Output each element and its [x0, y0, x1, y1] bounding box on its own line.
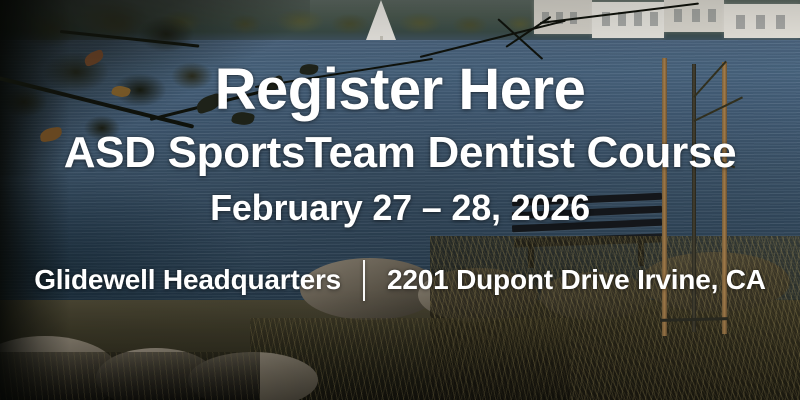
event-dates: February 27 – 28, 2026 [210, 189, 590, 227]
banner-text-overlay: Register Here ASD SportsTeam Dentist Cou… [0, 0, 800, 400]
venue-divider [363, 260, 365, 301]
event-banner: Register Here ASD SportsTeam Dentist Cou… [0, 0, 800, 400]
venue-line: Glidewell Headquarters 2201 Dupont Drive… [34, 260, 766, 301]
course-title: ASD SportsTeam Dentist Course [64, 130, 737, 176]
banner-headline: Register Here [215, 60, 586, 120]
venue-name: Glidewell Headquarters [34, 264, 341, 296]
venue-address: 2201 Dupont Drive Irvine, CA [387, 264, 766, 296]
